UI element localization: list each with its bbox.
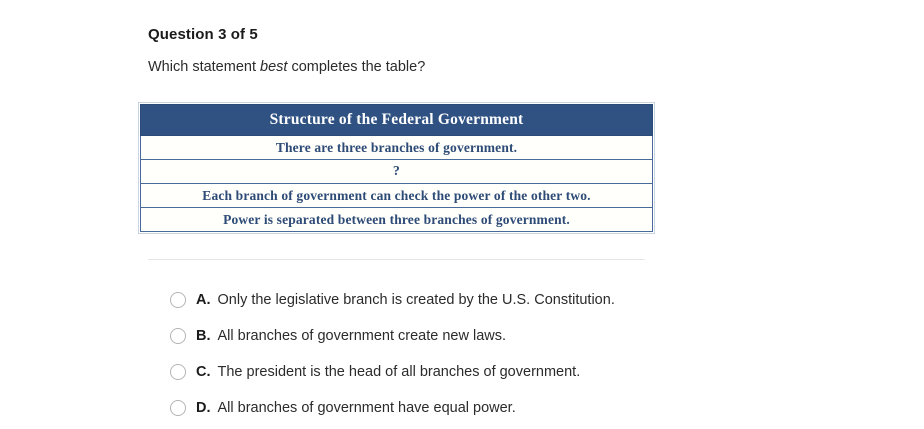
- option-text-a: Only the legislative branch is created b…: [218, 292, 615, 308]
- option-text-b: All branches of government create new la…: [218, 328, 507, 344]
- structure-table: Structure of the Federal Government Ther…: [140, 104, 653, 232]
- option-c[interactable]: C. The president is the head of all bran…: [170, 354, 770, 390]
- prompt-text-after: completes the table?: [287, 59, 425, 75]
- option-letter-c: C.: [196, 364, 211, 380]
- option-a[interactable]: A. Only the legislative branch is create…: [170, 282, 770, 318]
- table-cell-3: Each branch of government can check the …: [140, 184, 653, 208]
- table-header-cell: Structure of the Federal Government: [140, 104, 653, 136]
- option-letter-b: B.: [196, 328, 211, 344]
- table-cell-1: There are three branches of government.: [140, 136, 653, 160]
- radio-button-d[interactable]: [170, 400, 186, 416]
- federal-government-table: Structure of the Federal Government Ther…: [138, 102, 655, 234]
- option-text-d: All branches of government have equal po…: [218, 400, 516, 416]
- table-cell-4: Power is separated between three branche…: [140, 208, 653, 232]
- question-prompt: Which statement best completes the table…: [148, 59, 425, 75]
- radio-button-b[interactable]: [170, 328, 186, 344]
- question-page: Question 3 of 5 Which statement best com…: [0, 0, 924, 429]
- option-letter-a: A.: [196, 292, 211, 308]
- radio-button-c[interactable]: [170, 364, 186, 380]
- option-b[interactable]: B. All branches of government create new…: [170, 318, 770, 354]
- option-text-c: The president is the head of all branche…: [218, 364, 581, 380]
- table-row: Power is separated between three branche…: [140, 208, 653, 232]
- prompt-text-before: Which statement: [148, 59, 260, 75]
- prompt-emphasis: best: [260, 59, 287, 75]
- table-row: Each branch of government can check the …: [140, 184, 653, 208]
- section-divider: [148, 259, 645, 260]
- answer-options: A. Only the legislative branch is create…: [170, 282, 770, 426]
- table-cell-unknown: ?: [140, 160, 653, 184]
- table-row: There are three branches of government.: [140, 136, 653, 160]
- table-row: ?: [140, 160, 653, 184]
- page-title: Question 3 of 5: [148, 26, 258, 43]
- option-letter-d: D.: [196, 400, 211, 416]
- radio-button-a[interactable]: [170, 292, 186, 308]
- table-header-row: Structure of the Federal Government: [140, 104, 653, 136]
- option-d[interactable]: D. All branches of government have equal…: [170, 390, 770, 426]
